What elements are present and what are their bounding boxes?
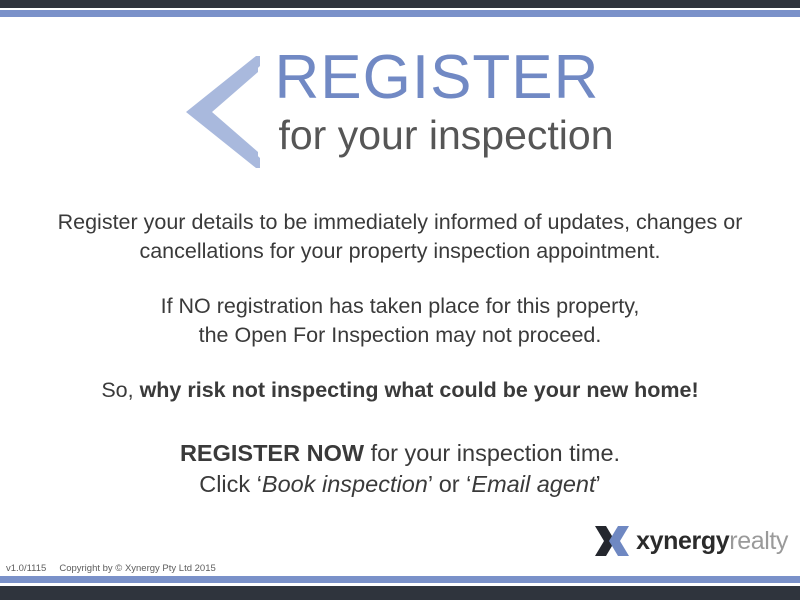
paragraph-prompt: So, why risk not inspecting what could b… — [0, 376, 800, 405]
top-blue-band — [0, 10, 800, 17]
cta-line-register-now: REGISTER NOW for your inspection time. — [0, 438, 800, 469]
header-lockup: REGISTER for your inspection — [0, 46, 800, 168]
cta-register-now-label: REGISTER NOW — [180, 440, 364, 466]
register-inspection-page: REGISTER for your inspection Register yo… — [0, 0, 800, 600]
header-text-block: REGISTER for your inspection — [274, 46, 613, 158]
cta-book-inspection-label: Book inspection — [262, 471, 428, 497]
cta-click-middle: or — [432, 471, 466, 497]
body-copy: Register your details to be immediately … — [0, 208, 800, 405]
paragraph-warning-line-2: the Open For Inspection may not proceed. — [199, 323, 602, 347]
cta-register-now-rest: for your inspection time. — [364, 440, 620, 466]
bottom-blue-band — [0, 576, 800, 583]
paragraph-prompt-emphasis: why risk not inspecting what could be yo… — [140, 378, 699, 402]
cta-line-click-actions: Click ‘Book inspection’ or ‘Email agent’ — [0, 469, 800, 500]
page-subtitle: for your inspection — [278, 112, 613, 158]
top-dark-band — [0, 0, 800, 8]
logo-wordmark: xynergyrealty — [636, 528, 788, 554]
paragraph-details-line-2: cancellations for your property inspecti… — [139, 239, 660, 263]
footer-meta: v1.0/1115 Copyright by © Xynergy Pty Ltd… — [6, 563, 216, 575]
logo-name-light: realty — [729, 527, 788, 555]
call-to-action: REGISTER NOW for your inspection time. C… — [0, 438, 800, 500]
paragraph-details-line-1: Register your details to be immediately … — [58, 210, 743, 234]
cta-quote-close-2: ’ — [596, 471, 601, 497]
page-title: REGISTER — [274, 46, 599, 110]
paragraph-warning: If NO registration has taken place for t… — [0, 292, 800, 350]
logo-name-bold: xynergy — [636, 527, 729, 555]
xynergy-realty-logo: xynergyrealty — [595, 524, 788, 558]
xynergy-x-mark-icon — [595, 524, 629, 558]
paragraph-prompt-prefix: So, — [101, 378, 139, 402]
cta-email-agent-label: Email agent — [471, 471, 595, 497]
paragraph-details: Register your details to be immediately … — [0, 208, 800, 266]
chevron-left-icon — [186, 56, 260, 168]
footer-copyright: Copyright by © Xynergy Pty Ltd 2015 — [59, 563, 215, 575]
cta-click-prefix: Click — [199, 471, 256, 497]
paragraph-warning-line-1: If NO registration has taken place for t… — [161, 294, 640, 318]
footer-version: v1.0/1115 — [6, 563, 46, 575]
bottom-dark-band — [0, 586, 800, 600]
